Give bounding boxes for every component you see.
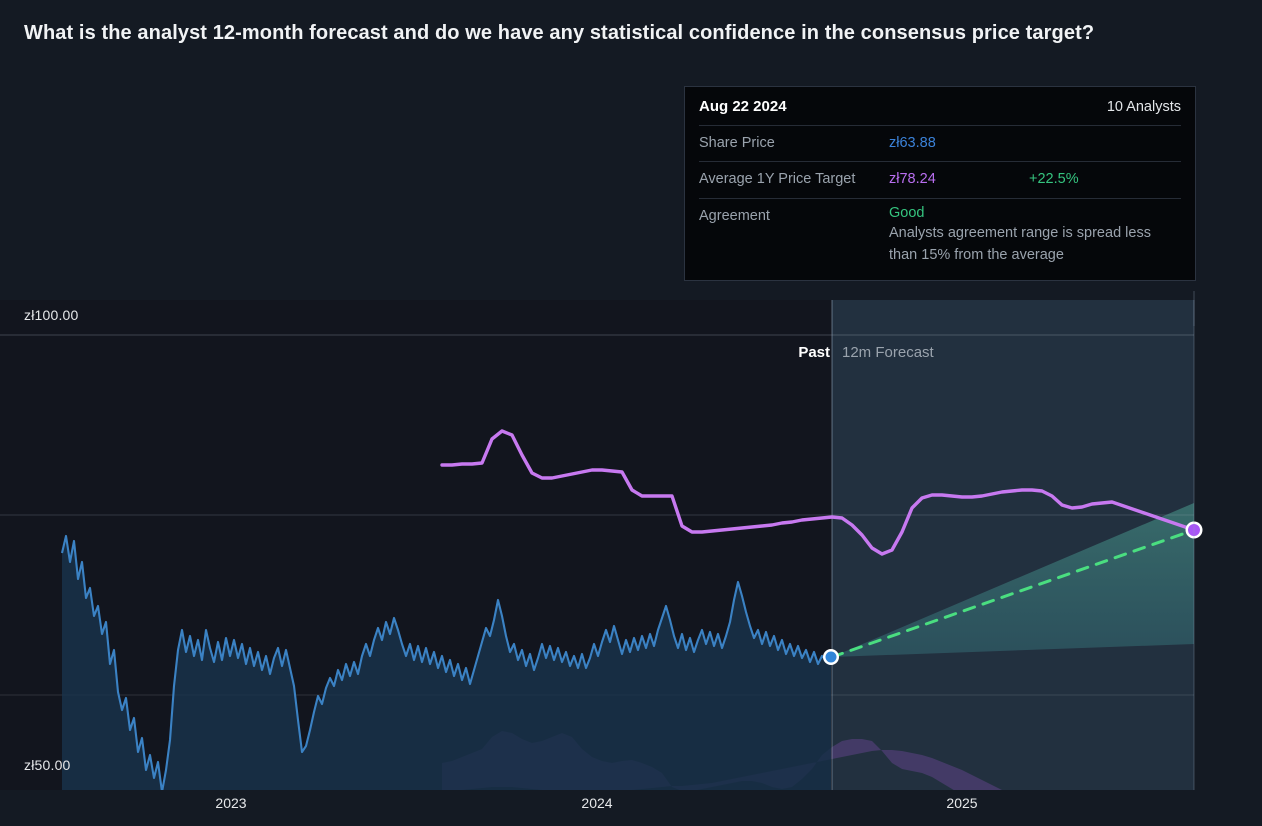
forecast-cone-lower: [832, 630, 1194, 790]
x-axis-tick-2023: 2023: [215, 795, 246, 811]
chart-tooltip: Aug 22 2024 10 Analysts Share Price zł63…: [684, 86, 1196, 281]
tooltip-value-share-price: zł63.88: [889, 132, 1029, 154]
tooltip-header: Aug 22 2024 10 Analysts: [699, 87, 1181, 125]
share-price-marker[interactable]: [823, 649, 839, 665]
y-axis-label-bottom: zł50.00: [24, 757, 71, 773]
x-axis-tick-2025: 2025: [946, 795, 977, 811]
x-axis-tick-2024: 2024: [581, 795, 612, 811]
tooltip-value-price-target: zł78.24: [889, 168, 1029, 190]
tooltip-change-price-target: +22.5%: [1029, 168, 1079, 190]
tooltip-date: Aug 22 2024: [699, 98, 787, 115]
tooltip-value-agreement: Good: [889, 205, 1179, 221]
past-region-label: Past: [798, 344, 830, 361]
y-axis-label-top: zł100.00: [24, 307, 79, 323]
tooltip-label-agreement: Agreement: [699, 205, 889, 267]
forecast-region-label: 12m Forecast: [842, 344, 934, 361]
tooltip-row-price-target: Average 1Y Price Target zł78.24 +22.5%: [699, 161, 1181, 197]
tooltip-agreement-column: Good Analysts agreement range is spread …: [889, 205, 1179, 267]
forecast-chart[interactable]: [0, 300, 1262, 790]
tooltip-label-price-target: Average 1Y Price Target: [699, 168, 889, 190]
tooltip-analyst-count: 10 Analysts: [1107, 99, 1181, 115]
outside-plot-background: [1194, 300, 1262, 790]
tooltip-label-share-price: Share Price: [699, 132, 889, 154]
tooltip-row-share-price: Share Price zł63.88: [699, 125, 1181, 161]
chart-svg: [0, 300, 1262, 790]
tooltip-row-agreement: Agreement Good Analysts agreement range …: [699, 198, 1181, 281]
tooltip-agreement-note: Analysts agreement range is spread less …: [889, 221, 1179, 267]
page-title: What is the analyst 12-month forecast an…: [24, 22, 1094, 45]
